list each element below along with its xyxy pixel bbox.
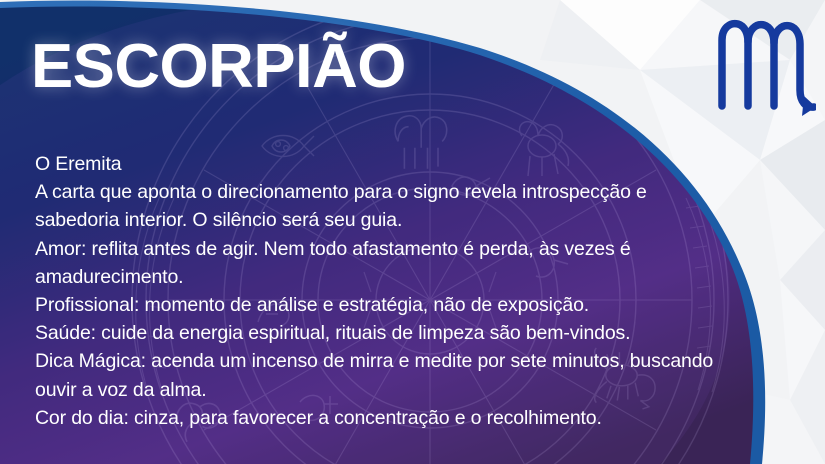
page-title: ESCORPIÃO <box>31 36 406 98</box>
horoscope-body-text: O Eremita A carta que aponta o direciona… <box>35 150 735 432</box>
horoscope-body-paragraph: O Eremita A carta que aponta o direciona… <box>35 150 735 432</box>
horoscope-card: ESCORPIÃO O Eremita A carta que aponta o… <box>0 0 825 464</box>
scorpio-zodiac-glyph-icon <box>712 10 816 122</box>
